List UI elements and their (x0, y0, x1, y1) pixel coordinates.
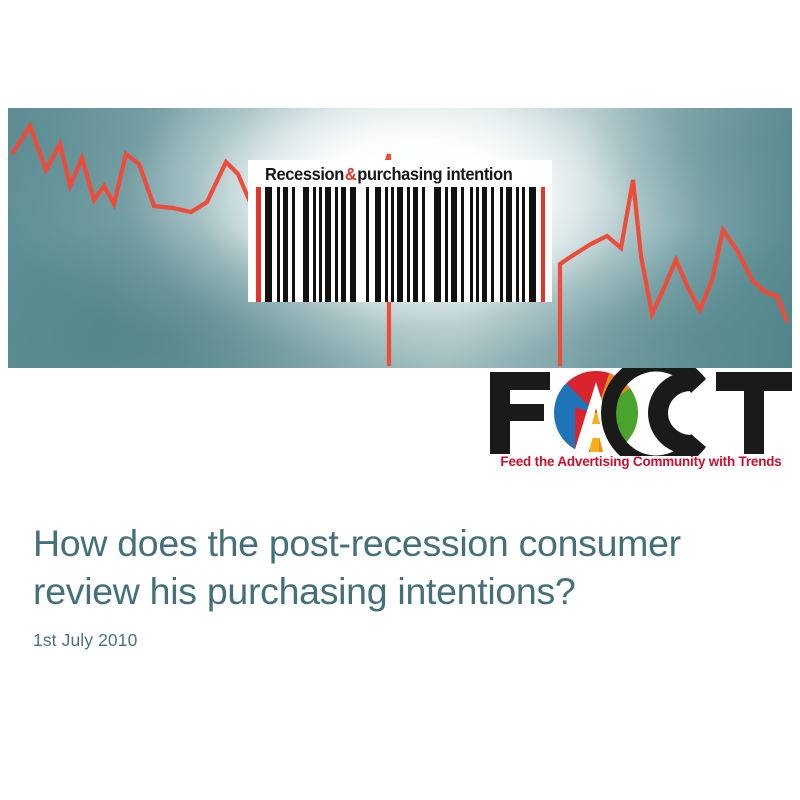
page-title: How does the post-recession consumer rev… (33, 519, 763, 615)
logo-letter-t (716, 372, 792, 454)
barcode-bar (434, 187, 441, 302)
barcode-bar (491, 187, 494, 302)
barcode-bar (385, 187, 388, 302)
barcode-bar (470, 187, 473, 302)
barcode-bar (341, 187, 346, 302)
barcode-bar (500, 187, 503, 302)
page-date: 1st July 2010 (33, 630, 137, 651)
barcode-graphic: Recession & purchasing intention (248, 160, 552, 302)
barcode-bar (461, 187, 464, 302)
barcode-bar (445, 187, 448, 302)
barcode-bar (529, 187, 536, 302)
barcode-bar (319, 187, 322, 302)
barcode-caption-suffix: purchasing intention (357, 164, 512, 185)
barcode-caption-prefix: Recession (265, 164, 344, 185)
barcode-caption-ampersand: & (344, 164, 357, 185)
barcode-bar (256, 187, 261, 302)
barcode-bar (391, 187, 394, 302)
barcode-bars (248, 187, 552, 302)
barcode-bar (482, 187, 487, 302)
barcode-bar (516, 187, 519, 302)
barcode-bar (335, 187, 338, 302)
barcode-bar (451, 187, 457, 302)
barcode-bar (350, 187, 356, 302)
fact-logo: Feed the Advertising Community with Tren… (488, 368, 794, 480)
fact-logo-tagline: Feed the Advertising Community with Tren… (491, 454, 791, 469)
barcode-bar (277, 187, 280, 302)
hero-banner-image: Recession & purchasing intention (8, 108, 792, 368)
chart-line-right (560, 180, 787, 366)
barcode-bar (265, 187, 272, 302)
barcode-bar (541, 187, 545, 302)
barcode-bar (303, 187, 309, 302)
barcode-bar (506, 187, 512, 302)
slide-canvas: Recession & purchasing intention (0, 0, 800, 800)
barcode-bar (375, 187, 381, 302)
barcode-bar (292, 187, 295, 302)
logo-letter-f (490, 372, 550, 454)
barcode-bar (476, 187, 479, 302)
barcode-bar (283, 187, 288, 302)
barcode-bar (397, 187, 403, 302)
barcode-bar (522, 187, 525, 302)
barcode-caption: Recession & purchasing intention (265, 162, 521, 187)
barcode-bar (422, 187, 425, 302)
barcode-bar (325, 187, 331, 302)
fact-logo-mark (488, 368, 794, 456)
barcode-bar (366, 187, 369, 302)
barcode-bar (407, 187, 410, 302)
barcode-bar (313, 187, 316, 302)
barcode-bar (413, 187, 418, 302)
